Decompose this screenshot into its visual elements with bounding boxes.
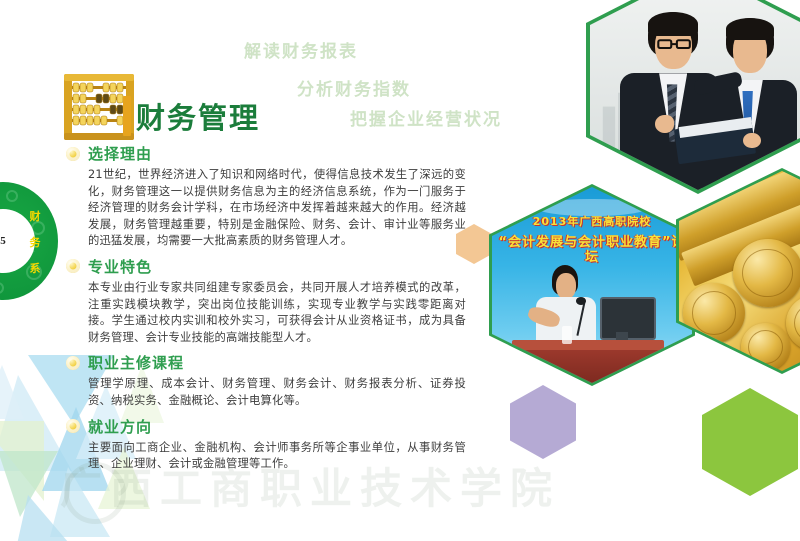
footer-watermark: 广西工商职业技术学院 (60, 455, 700, 525)
photo-content (679, 171, 800, 371)
green-hexagon (702, 388, 798, 496)
section-body: 管理学原理、成本会计、财务管理、财务会计、财务报表分析、证券投资、纳税实务、金融… (88, 376, 466, 409)
microphone-head (576, 297, 586, 305)
ring-bullet-icon (66, 356, 80, 370)
gold-coins-and-bars-photo (679, 171, 800, 371)
section-body: 21世纪，世界经济进入了知识和网络时代，使得信息技术发生了深远的变化，财务管理这… (88, 167, 466, 250)
section-body: 本专业由行业专家共同组建专家委员会，共同开展人才培养模式的改革，注重实践模块教学… (88, 280, 466, 346)
badge-vertical-text: 财 务 系 (22, 204, 48, 282)
page-title: 财务管理 (136, 95, 260, 137)
podium (516, 344, 660, 383)
water-bottle (562, 326, 572, 344)
section-header: 选择理由 (66, 143, 466, 164)
brochure-page: 5 财 务 系 (0, 0, 800, 541)
man-right-fringe (726, 18, 774, 40)
section-header: 职业主修课程 (66, 352, 466, 373)
presentation-monitor (600, 297, 656, 340)
podium-top (512, 340, 664, 350)
gold-coin-krugerrand (733, 239, 800, 307)
slogan-2: 把握企业经营状况 (350, 105, 502, 130)
section-header: 就业方向 (66, 416, 466, 437)
banner-line-1: 2013年广西高职院校 (492, 216, 692, 229)
hand-left (655, 115, 674, 133)
speaker-head (556, 273, 576, 298)
badge-char-1: 务 (22, 230, 48, 256)
photo-content: 2013年广西高职院校 “会计发展与会计职业教育”论坛 (492, 187, 692, 383)
slogan-0: 解读财务报表 (244, 37, 358, 62)
ring-bullet-icon (66, 147, 80, 161)
section-features: 专业特色 本专业由行业专家共同组建专家委员会，共同开展人才培养模式的改革，注重实… (66, 256, 466, 346)
title-accent-bar (123, 96, 131, 136)
badge-char-2: 系 (22, 256, 48, 282)
hand-right (743, 133, 760, 148)
badge-char-0: 财 (22, 204, 48, 230)
section-courses: 职业主修课程 管理学原理、成本会计、财务管理、财务会计、财务报表分析、证券投资、… (66, 352, 466, 409)
ring-bullet-icon (66, 419, 80, 433)
section-header: 专业特色 (66, 256, 466, 277)
glasses-icon (657, 36, 692, 51)
photo-content: DL (590, 0, 800, 190)
man-left-fringe (648, 12, 698, 36)
ring-bullet-icon (66, 259, 80, 273)
lavender-hexagon (510, 385, 576, 459)
section-title: 选择理由 (88, 143, 152, 164)
accounting-forum-speaker-photo: 2013年广西高职院校 “会计发展与会计职业教育”论坛 (492, 187, 692, 383)
page-number-badge: 5 财 务 系 (0, 182, 58, 300)
businessmen-reviewing-document-photo: DL (590, 0, 800, 190)
section-reason: 选择理由 21世纪，世界经济进入了知识和网络时代，使得信息技术发生了深远的变化，… (66, 143, 466, 250)
content-sections: 选择理由 21世纪，世界经济进入了知识和网络时代，使得信息技术发生了深远的变化，… (66, 143, 466, 479)
slogan-1: 分析财务指数 (297, 75, 411, 100)
section-title: 专业特色 (88, 256, 152, 277)
section-title: 就业方向 (88, 416, 152, 437)
section-title: 职业主修课程 (88, 352, 184, 373)
banner-line-2: “会计发展与会计职业教育”论坛 (492, 236, 692, 266)
